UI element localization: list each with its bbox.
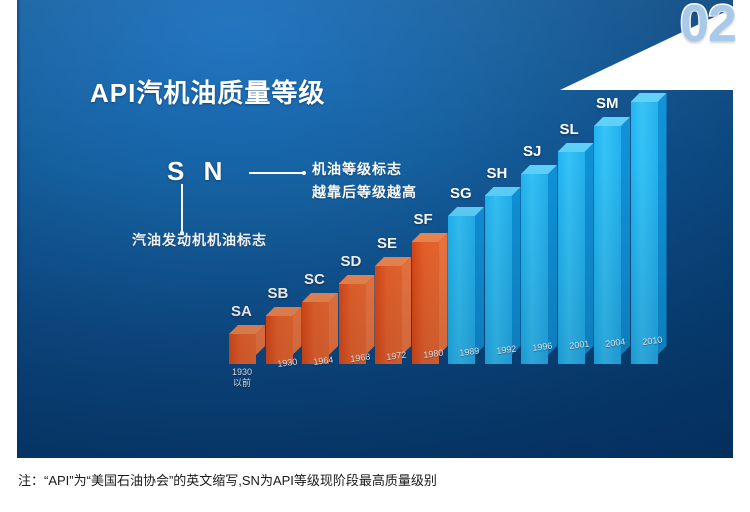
bar-front-face bbox=[558, 152, 585, 364]
slide-root: API汽机油质量等级 S N 机油等级标志 越靠后等级越高 汽油发动机机油标志 … bbox=[0, 0, 750, 512]
bar-front-face bbox=[229, 334, 256, 364]
bar-sh bbox=[485, 187, 521, 364]
bar-sg bbox=[448, 207, 484, 364]
bar-side-face bbox=[475, 207, 484, 355]
bar-label-sh: SH bbox=[487, 165, 508, 182]
bar-se bbox=[375, 257, 411, 364]
bar-front-face bbox=[631, 102, 658, 364]
bar-label-sa: SA bbox=[231, 303, 252, 320]
section-number-badge: 02 bbox=[560, 0, 750, 90]
bar-sj bbox=[521, 165, 557, 364]
bar-label-sb: SB bbox=[268, 285, 289, 302]
bar-sm bbox=[594, 117, 630, 364]
bar-label-sj: SJ bbox=[523, 143, 541, 160]
bar-front-face bbox=[521, 174, 548, 364]
bar-side-face bbox=[658, 93, 667, 355]
bar-front-face bbox=[485, 196, 512, 364]
bar-side-face bbox=[512, 187, 521, 355]
bar-sc bbox=[302, 293, 338, 364]
badge-number-text: 02 bbox=[680, 0, 736, 54]
bar-sn bbox=[631, 93, 667, 364]
footer-note-text: 注：“API”为“美国石油协会”的英文缩写,SN为API等级现阶段最高质量级别 bbox=[18, 470, 437, 489]
year-label-sn: 2010 bbox=[641, 334, 662, 346]
bar-label-sd: SD bbox=[341, 253, 362, 270]
bar-side-face bbox=[402, 257, 411, 355]
bar-side-face bbox=[585, 143, 594, 355]
bar-label-sl: SL bbox=[560, 121, 579, 138]
bar-side-face bbox=[439, 233, 448, 355]
year-label-sb: 1930 bbox=[276, 356, 297, 368]
bar-sa bbox=[229, 325, 265, 364]
bar-side-face bbox=[621, 117, 630, 355]
year-label-sh: 1992 bbox=[495, 343, 516, 355]
bar-sb bbox=[266, 307, 302, 364]
year-label-sg: 1989 bbox=[459, 345, 480, 357]
bar-label-sm: SM bbox=[596, 95, 619, 112]
bar-side-face bbox=[548, 165, 557, 355]
bar-side-face bbox=[329, 293, 338, 355]
year-label-sc: 1964 bbox=[313, 354, 334, 366]
bar-label-se: SE bbox=[377, 235, 397, 252]
bar-front-face bbox=[594, 126, 621, 364]
bar-front-face bbox=[375, 266, 402, 364]
bar-front-face bbox=[448, 216, 475, 364]
bar-sf bbox=[412, 233, 448, 364]
footer-bar: 注：“API”为“美国石油协会”的英文缩写,SN为API等级现阶段最高质量级别 bbox=[0, 458, 750, 512]
bar-label-sg: SG bbox=[450, 185, 472, 202]
bar-sl bbox=[558, 143, 594, 364]
bar-front-face bbox=[412, 242, 439, 364]
bar-label-sc: SC bbox=[304, 271, 325, 288]
bar-label-sf: SF bbox=[414, 211, 433, 228]
bar-side-face bbox=[366, 275, 375, 355]
year-label-sa: 1930以前 bbox=[232, 367, 252, 389]
